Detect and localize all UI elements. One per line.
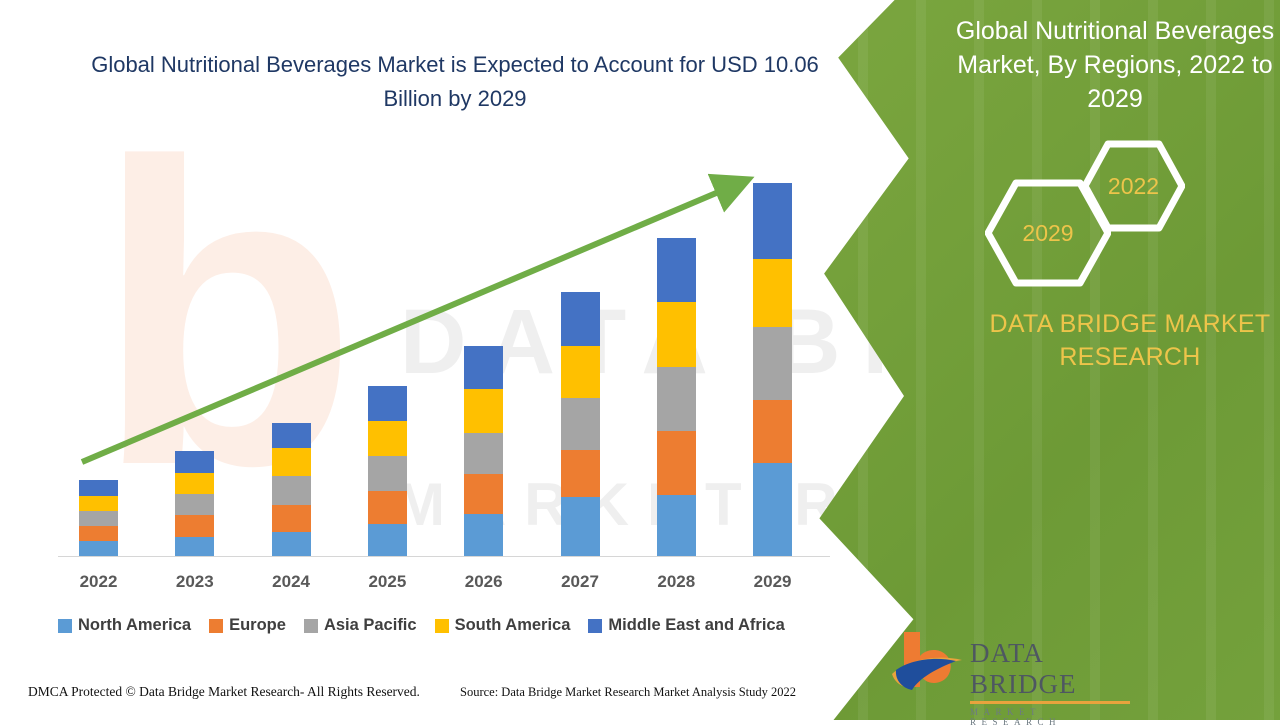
bar-segment-asia-pacific-2022 — [79, 511, 118, 526]
bar-segment-asia-pacific-2025 — [368, 456, 407, 491]
x-axis-label-2028: 2028 — [636, 572, 716, 592]
bar-segment-asia-pacific-2028 — [657, 367, 696, 431]
bar-segment-north-america-2028 — [657, 495, 696, 556]
bar-segment-south-america-2028 — [657, 302, 696, 367]
logo-divider — [970, 701, 1130, 704]
bar-segment-middle-east-and-africa-2029 — [753, 183, 792, 259]
bar-segment-europe-2028 — [657, 431, 696, 495]
footer-copyright: DMCA Protected © Data Bridge Market Rese… — [28, 684, 420, 700]
bar-segment-north-america-2024 — [272, 532, 311, 556]
x-axis-label-2026: 2026 — [444, 572, 524, 592]
hexagon-2022-label: 2022 — [1108, 173, 1159, 200]
chart-plot-area: 20222023202420252026202720282029 — [0, 0, 900, 720]
legend-label: Asia Pacific — [324, 616, 417, 635]
x-axis-label-2029: 2029 — [733, 572, 813, 592]
legend-item-europe[interactable]: Europe — [209, 616, 286, 635]
logo-wordmark: DATA BRIDGE MARKET RESEARCH — [970, 638, 1130, 727]
logo-main-text: DATA BRIDGE — [970, 638, 1130, 700]
hexagon-2029-label: 2029 — [1022, 220, 1073, 247]
legend-item-asia-pacific[interactable]: Asia Pacific — [304, 616, 417, 635]
bar-2028 — [657, 238, 696, 556]
bar-segment-south-america-2029 — [753, 259, 792, 327]
bar-segment-middle-east-and-africa-2026 — [464, 346, 503, 389]
chart-baseline — [58, 556, 830, 557]
x-axis-label-2022: 2022 — [59, 572, 139, 592]
bar-segment-europe-2025 — [368, 491, 407, 524]
legend-item-north-america[interactable]: North America — [58, 616, 191, 635]
bar-2023 — [175, 451, 214, 556]
bar-segment-middle-east-and-africa-2024 — [272, 423, 311, 448]
bar-segment-europe-2024 — [272, 505, 311, 532]
x-axis-label-2024: 2024 — [251, 572, 331, 592]
bar-segment-asia-pacific-2023 — [175, 494, 214, 515]
logo-sub-text: MARKET RESEARCH — [970, 707, 1130, 727]
bar-segment-south-america-2023 — [175, 473, 214, 494]
legend-label: Europe — [229, 616, 286, 635]
hexagon-group: 2029 2022 — [985, 140, 1205, 285]
brand-name: DATA BRIDGE MARKET RESEARCH — [930, 308, 1280, 374]
bar-segment-europe-2023 — [175, 515, 214, 537]
bar-segment-middle-east-and-africa-2023 — [175, 451, 214, 473]
bar-segment-north-america-2022 — [79, 541, 118, 556]
x-axis-label-2027: 2027 — [540, 572, 620, 592]
chart-legend: North AmericaEuropeAsia PacificSouth Ame… — [58, 616, 848, 635]
legend-swatch-icon — [209, 619, 223, 633]
bar-2029 — [753, 183, 792, 556]
bar-2027 — [561, 292, 600, 556]
bar-segment-north-america-2023 — [175, 537, 214, 556]
hexagon-2022: 2022 — [1082, 140, 1185, 232]
bar-segment-middle-east-and-africa-2025 — [368, 386, 407, 421]
bar-2022 — [79, 480, 118, 556]
bar-segment-europe-2022 — [79, 526, 118, 541]
bar-segment-europe-2029 — [753, 400, 792, 463]
legend-swatch-icon — [435, 619, 449, 633]
bar-segment-south-america-2025 — [368, 421, 407, 456]
bar-segment-south-america-2027 — [561, 346, 600, 398]
bar-2026 — [464, 346, 503, 556]
footer: DMCA Protected © Data Bridge Market Rese… — [0, 684, 900, 714]
bar-segment-asia-pacific-2027 — [561, 398, 600, 450]
legend-swatch-icon — [58, 619, 72, 633]
bar-segment-north-america-2027 — [561, 497, 600, 556]
x-axis-label-2023: 2023 — [155, 572, 235, 592]
bar-segment-south-america-2022 — [79, 496, 118, 511]
bar-segment-asia-pacific-2024 — [272, 476, 311, 505]
bar-segment-north-america-2025 — [368, 524, 407, 556]
legend-label: Middle East and Africa — [608, 616, 784, 635]
bar-segment-asia-pacific-2026 — [464, 433, 503, 474]
bar-segment-south-america-2024 — [272, 448, 311, 476]
legend-label: North America — [78, 616, 191, 635]
bar-segment-middle-east-and-africa-2028 — [657, 238, 696, 302]
bar-segment-asia-pacific-2029 — [753, 327, 792, 400]
x-axis-label-2025: 2025 — [347, 572, 427, 592]
bar-segment-south-america-2026 — [464, 389, 503, 433]
bar-segment-north-america-2026 — [464, 514, 503, 556]
panel-title: Global Nutritional Beverages Market, By … — [950, 14, 1280, 116]
legend-item-middle-east-and-africa[interactable]: Middle East and Africa — [588, 616, 784, 635]
bar-segment-europe-2026 — [464, 474, 503, 514]
bar-segment-north-america-2029 — [753, 463, 792, 556]
footer-source: Source: Data Bridge Market Research Mark… — [460, 685, 796, 700]
legend-swatch-icon — [588, 619, 602, 633]
bar-segment-europe-2027 — [561, 450, 600, 497]
data-bridge-logo: DATA BRIDGE MARKET RESEARCH — [890, 630, 1120, 700]
bar-2024 — [272, 423, 311, 556]
bar-2025 — [368, 386, 407, 556]
bar-segment-middle-east-and-africa-2022 — [79, 480, 118, 496]
legend-item-south-america[interactable]: South America — [435, 616, 571, 635]
logo-mark-icon — [890, 630, 968, 694]
legend-label: South America — [455, 616, 571, 635]
legend-swatch-icon — [304, 619, 318, 633]
bar-segment-middle-east-and-africa-2027 — [561, 292, 600, 346]
